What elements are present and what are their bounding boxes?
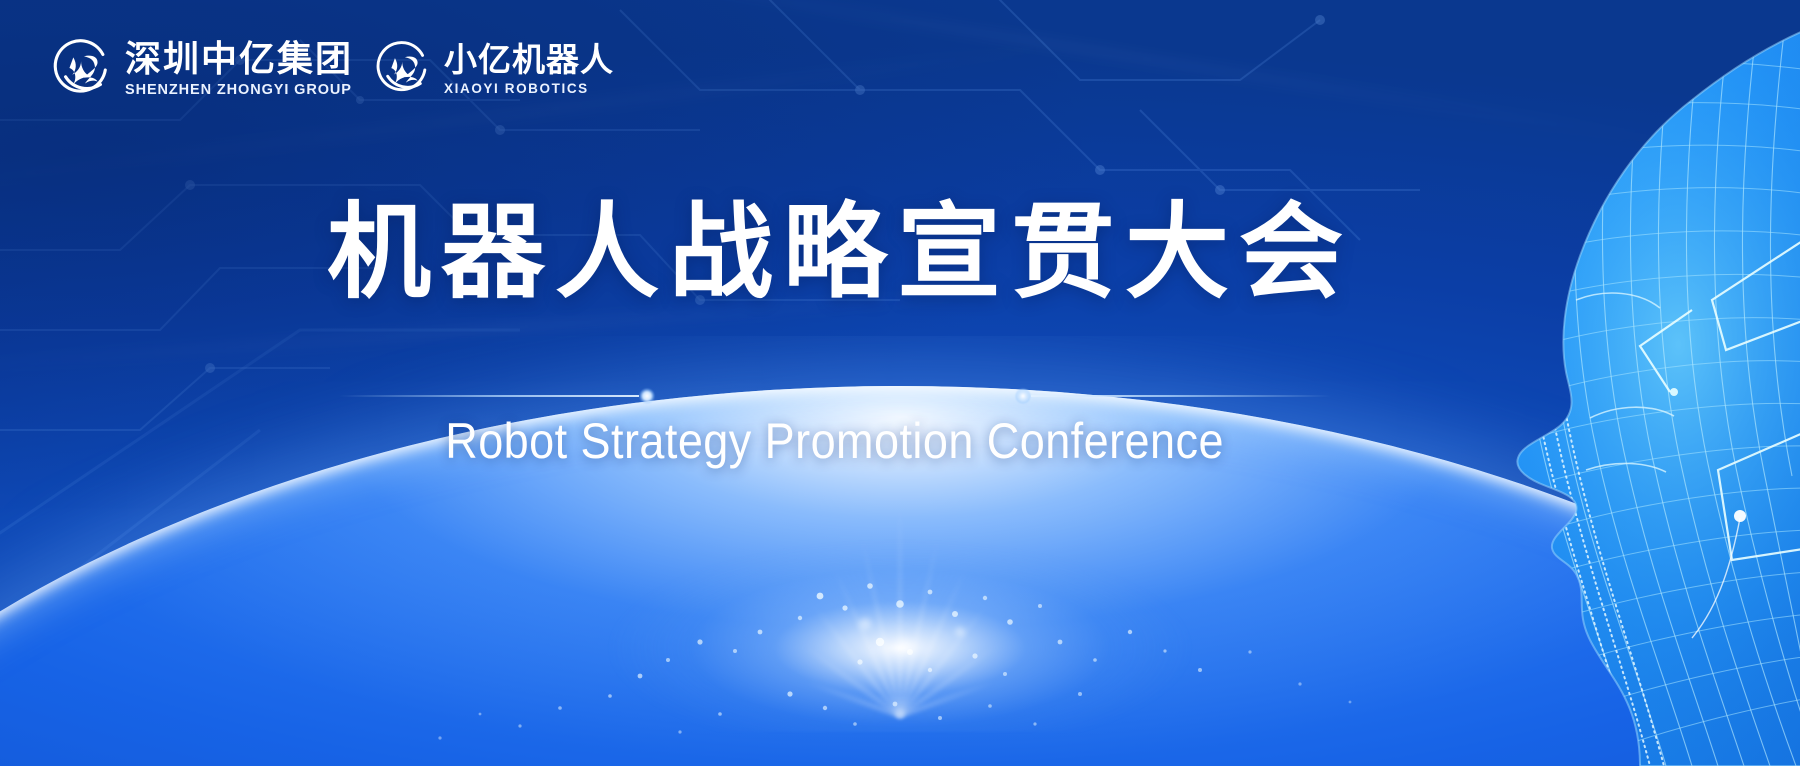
title-divider (0, 388, 1800, 404)
zhongyi-emblem-icon (52, 38, 114, 100)
logo-bar: 深圳中亿集团 SHENZHEN ZHONGYI GROUP 小亿机器人 XIAO… (52, 38, 614, 100)
city-lights (0, 446, 1800, 766)
divider-dot-left (639, 388, 655, 404)
subtitle-block: Robot Strategy Promotion Conference (0, 412, 1800, 470)
conference-banner: 深圳中亿集团 SHENZHEN ZHONGYI GROUP 小亿机器人 XIAO… (0, 0, 1800, 766)
divider-dot-right (1015, 388, 1031, 404)
logo-zhongyi-group: 深圳中亿集团 SHENZHEN ZHONGYI GROUP (52, 38, 353, 100)
logo-zhongyi-en: SHENZHEN ZHONGYI GROUP (125, 83, 353, 98)
xiaoyi-emblem-icon (375, 40, 433, 98)
logo-xiaoyi-robotics: 小亿机器人 XIAOYI ROBOTICS (375, 40, 614, 98)
divider-line-right (1031, 395, 1331, 397)
logo-xiaoyi-cn: 小亿机器人 (444, 43, 614, 76)
page-subtitle: Robot Strategy Promotion Conference (446, 412, 1225, 470)
logo-xiaoyi-en: XIAOYI ROBOTICS (444, 82, 614, 96)
logo-zhongyi-cn: 深圳中亿集团 (125, 41, 353, 77)
page-title: 机器人战略宣贯大会 (317, 196, 1353, 308)
divider-line-left (339, 395, 639, 397)
title-block: 机器人战略宣贯大会 (0, 196, 1800, 308)
